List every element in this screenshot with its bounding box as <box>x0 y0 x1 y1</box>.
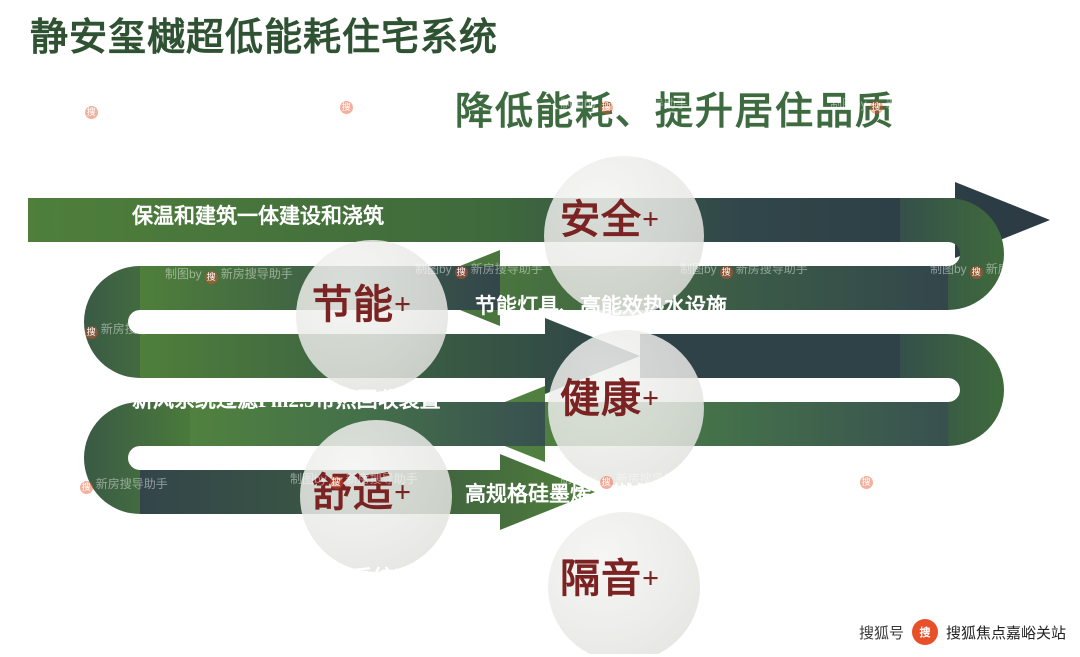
footer-account-name: 搜狐焦点嘉峪关站 <box>946 622 1066 643</box>
row-1-keyword: 安全+ <box>560 187 660 245</box>
footer-logo-badge: 搜狐号 搜 搜狐焦点嘉峪关站 <box>859 619 1066 645</box>
row-1-description: 保温和建筑一体建设和浇筑 <box>132 200 384 230</box>
row-3-description: 新风系统过滤Pm2.5带热回收装置 <box>132 384 441 414</box>
row-4-description: 高规格硅墨烯不燃保温板、保温系统 <box>465 478 801 508</box>
row-1-keyword-plus: + <box>642 203 660 236</box>
page-title: 静安玺樾超低能耗住宅系统 <box>30 6 498 61</box>
row-5-keyword-plus: + <box>642 562 660 595</box>
row-3-keyword-text: 健康 <box>560 376 642 421</box>
row-2-keyword-plus: + <box>394 288 412 321</box>
row-2-keyword-text: 节能 <box>312 282 394 327</box>
row-4-keyword: 舒适+ <box>312 460 412 518</box>
row-4-keyword-plus: + <box>394 476 412 509</box>
row-5-keyword-text: 隔音 <box>560 556 642 601</box>
footer-channel-label: 搜狐号 <box>859 622 904 643</box>
row-2-keyword: 节能+ <box>312 272 412 330</box>
row-4-keyword-text: 舒适 <box>312 470 394 515</box>
poster-root: 静安玺樾超低能耗住宅系统 降低能耗、提升居住品质 <box>0 0 1080 657</box>
watermark: 制图by搜新房搜导助手 <box>300 95 428 114</box>
watermark: 制图by搜新房搜导助手 <box>45 100 173 119</box>
page-subtitle: 降低能耗、提升居住品质 <box>455 80 895 135</box>
row-2-description: 节能灯具、高能效热水设施 <box>475 290 727 320</box>
row-1-keyword-text: 安全 <box>560 197 642 242</box>
row-3-keyword-plus: + <box>642 382 660 415</box>
sohu-logo-icon: 搜 <box>912 619 938 645</box>
row-3-keyword: 健康+ <box>560 366 660 424</box>
row-5-keyword: 隔音+ <box>560 546 660 604</box>
row-5-description: 高气密等级节能系统窗 <box>205 562 415 592</box>
